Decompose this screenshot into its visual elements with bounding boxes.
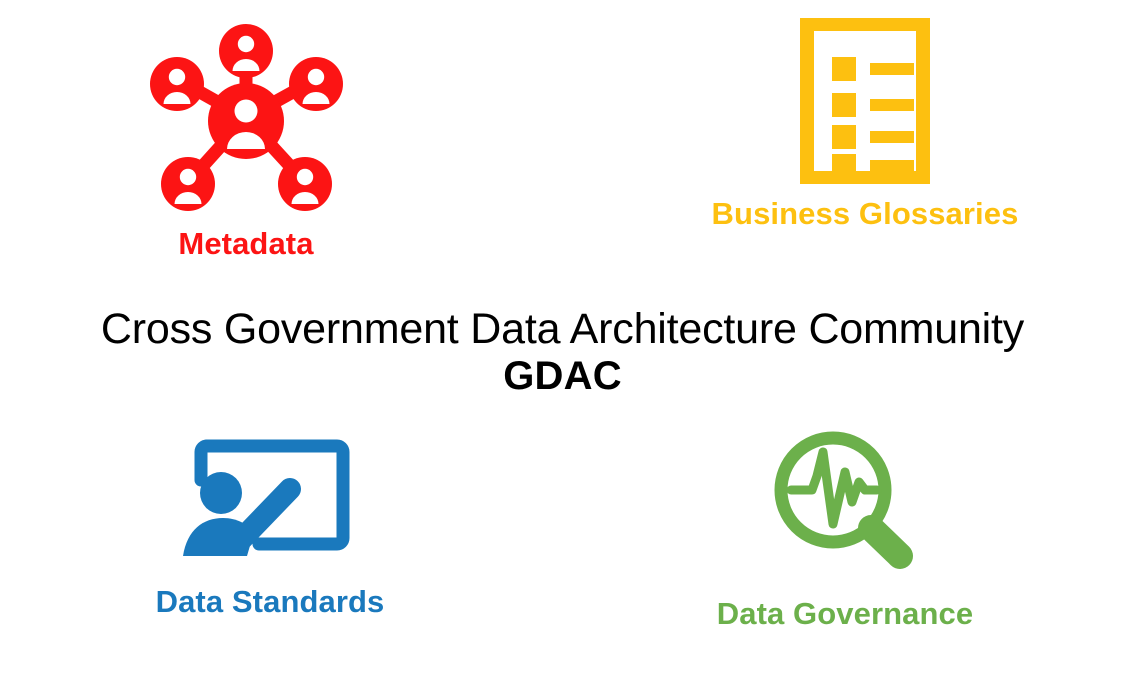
satellite-node-right (289, 57, 343, 111)
satellite-node-top (219, 24, 273, 78)
presenter-whiteboard-icon (177, 432, 363, 564)
page-title-acronym: GDAC (0, 354, 1125, 399)
magnifier-pulse-icon (767, 428, 923, 576)
card-metadata[interactable]: Metadata (128, 18, 364, 259)
presenter-whiteboard-icon-wrap (177, 432, 363, 564)
hub-node (208, 83, 284, 159)
card-data-governance[interactable]: Data Governance (690, 428, 1000, 629)
satellite-node-bottom-right (278, 157, 332, 211)
card-business-glossaries[interactable]: Business Glossaries (665, 18, 1065, 229)
card-data-standards[interactable]: Data Standards (110, 432, 430, 617)
document-list-icon (800, 18, 930, 184)
card-business-glossaries-label: Business Glossaries (712, 198, 1019, 229)
network-people-icon-wrap (146, 18, 346, 216)
page-title: Cross Government Data Architecture Commu… (0, 306, 1125, 352)
card-data-standards-label: Data Standards (156, 586, 385, 617)
slide-canvas: Metadata Business Glossaries (0, 0, 1125, 678)
satellite-node-left (150, 57, 204, 111)
card-metadata-label: Metadata (178, 228, 313, 259)
title-block: Cross Government Data Architecture Commu… (0, 306, 1125, 399)
card-data-governance-label: Data Governance (717, 598, 974, 629)
magnifier-pulse-icon-wrap (767, 428, 923, 576)
document-list-icon-wrap (800, 18, 930, 184)
network-people-icon (146, 18, 346, 216)
satellite-node-bottom-left (161, 157, 215, 211)
